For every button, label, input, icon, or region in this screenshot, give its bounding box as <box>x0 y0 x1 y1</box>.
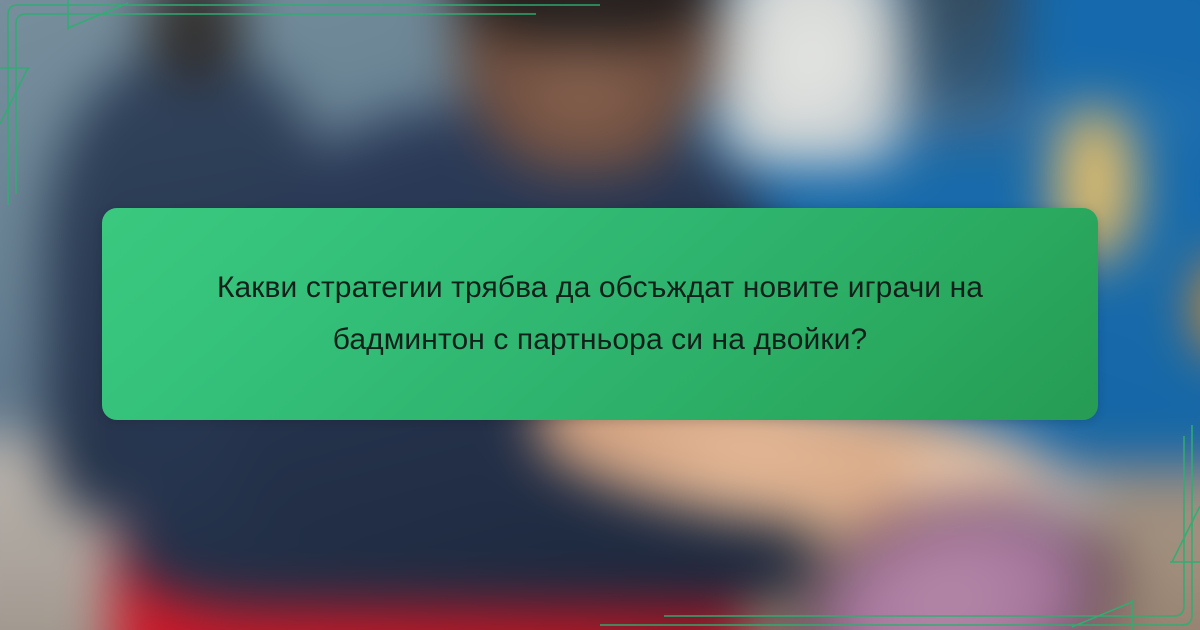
social-card-canvas: Какви стратегии трябва да обсъждат новит… <box>0 0 1200 630</box>
bg-dark-strip <box>904 0 1023 165</box>
question-text: Какви стратегии трябва да обсъждат новит… <box>200 262 1000 365</box>
question-card: Какви стратегии трябва да обсъждат новит… <box>102 208 1098 420</box>
bg-wall-highlight <box>706 0 917 165</box>
